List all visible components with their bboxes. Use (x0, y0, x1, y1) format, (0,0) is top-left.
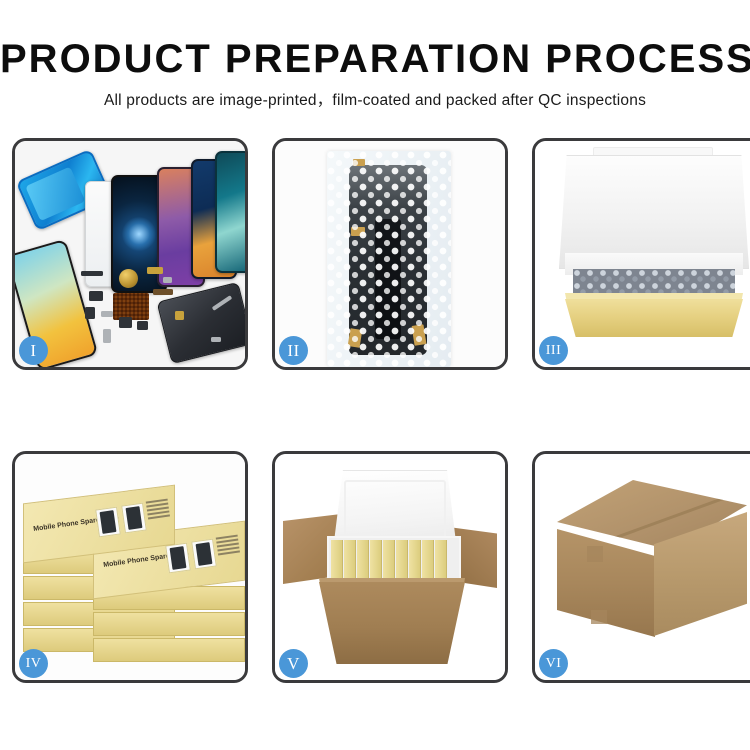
box-window-front-1 (165, 543, 191, 574)
ribbon-cable-part (153, 289, 173, 295)
step-6-image (535, 454, 750, 680)
step-3-image (535, 141, 750, 367)
button-part (137, 321, 148, 330)
yellow-box-body (565, 299, 743, 337)
box-window-front-2 (191, 539, 217, 570)
process-step-2: II (272, 138, 508, 370)
page-subtitle: All products are image-printed，film-coat… (0, 90, 750, 112)
step-1-image (15, 141, 245, 367)
process-step-6: VI (532, 451, 750, 683)
step-3-badge: III (539, 336, 568, 365)
page-title: PRODUCT PREPARATION PROCESS (0, 36, 750, 82)
bubble-texture (327, 151, 451, 367)
speaker-coil-part (119, 269, 138, 288)
product-preparation-page: PRODUCT PREPARATION PROCESS All products… (0, 0, 750, 750)
process-step-1: I (12, 138, 248, 370)
step-5-image (275, 454, 505, 680)
box-window-back-1 (95, 507, 121, 538)
box-stack: Mobile Phone Spare Parts Mobile Phone Sp… (21, 478, 245, 668)
step-4-badge: IV (19, 649, 48, 678)
antenna-part (175, 311, 184, 320)
step-2-badge: II (279, 336, 308, 365)
step-2-image (275, 141, 505, 367)
flex-cable-part (81, 271, 103, 276)
camera-module-part (85, 307, 95, 319)
phone-teal-screen (215, 151, 245, 273)
step-1-badge: I (19, 336, 48, 365)
logic-board-part (113, 293, 149, 320)
carton-tape-lower (591, 610, 607, 624)
foam-lid-sheet (559, 155, 749, 269)
bubble-wrap-bag (327, 151, 451, 367)
box-text-lines-back (146, 499, 171, 522)
process-step-4: Mobile Phone Spare Parts Mobile Phone Sp… (12, 451, 248, 683)
tool-tip-part (211, 337, 221, 342)
gold-connector-part (147, 267, 163, 274)
vibrator-part (119, 317, 132, 328)
process-step-3: III (532, 138, 750, 370)
process-steps-grid: I II (12, 138, 738, 683)
step-4-image: Mobile Phone Spare Parts Mobile Phone Sp… (15, 454, 245, 680)
stacked-box-r4 (93, 612, 245, 636)
step-6-badge: VI (539, 649, 568, 678)
ic-chip-part (89, 291, 103, 301)
box-text-lines-front (216, 535, 241, 558)
header: PRODUCT PREPARATION PROCESS All products… (0, 0, 750, 112)
sim-tray-part (103, 329, 111, 343)
process-step-5: V (272, 451, 508, 683)
stacked-box-bottom-right (93, 638, 245, 662)
metal-bracket-part (163, 277, 172, 283)
step-5-badge: V (279, 649, 308, 678)
yellow-boxes-inside (331, 540, 453, 582)
screw-set-part (101, 311, 113, 317)
carton-body (319, 582, 465, 664)
box-window-back-2 (121, 503, 147, 534)
carton-tape-upper (587, 546, 603, 562)
